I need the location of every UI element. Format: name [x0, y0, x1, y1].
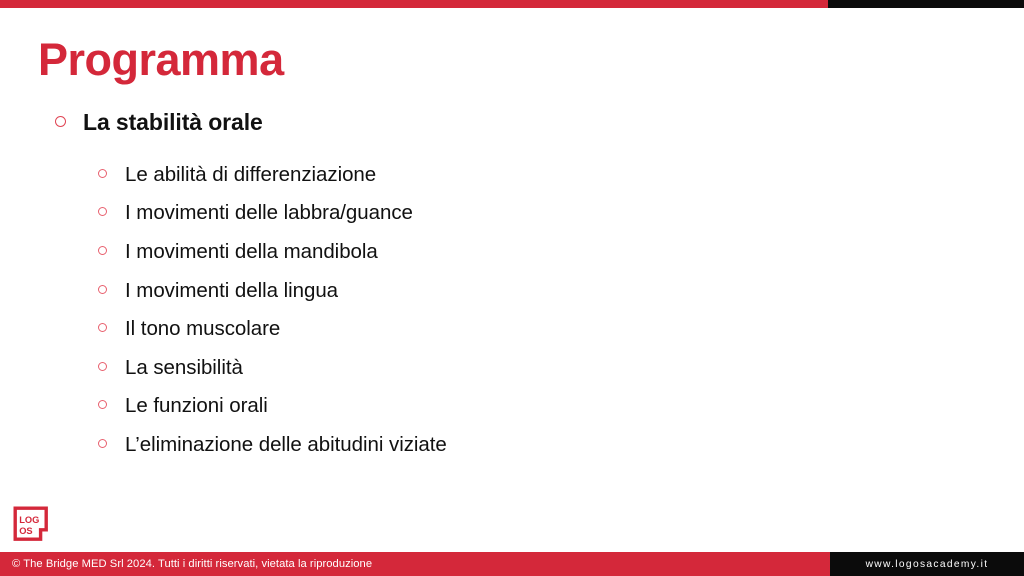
circle-bullet-icon [98, 207, 107, 216]
top-accent-bar-red [0, 0, 828, 8]
list-item: Le funzioni orali [98, 394, 1024, 433]
footer-website-area: www.logosacademy.it [830, 552, 1024, 576]
copyright-text: © The Bridge MED Srl 2024. Tutti i dirit… [0, 558, 372, 570]
circle-bullet-icon [98, 439, 107, 448]
website-url-text: www.logosacademy.it [866, 559, 989, 570]
footer-bar: © The Bridge MED Srl 2024. Tutti i dirit… [0, 552, 1024, 576]
circle-bullet-icon [98, 323, 107, 332]
list-item-label: I movimenti della lingua [125, 279, 338, 304]
page-title: Programma [38, 36, 284, 83]
circle-bullet-icon [98, 362, 107, 371]
list-item: L’eliminazione delle abitudini viziate [98, 433, 1024, 472]
circle-bullet-icon [55, 116, 66, 127]
circle-bullet-icon [98, 169, 107, 178]
section-heading-item: La stabilità orale [55, 108, 1024, 137]
content-body: La stabilità orale Le abilità di differe… [0, 108, 1024, 472]
circle-bullet-icon [98, 285, 107, 294]
list-item-label: Le abilità di differenziazione [125, 163, 376, 188]
slide-canvas: Programma La stabilità orale Le abilità … [0, 0, 1024, 576]
bullet-list: Le abilità di differenziazione I movimen… [0, 163, 1024, 472]
list-item-label: L’eliminazione delle abitudini viziate [125, 433, 447, 458]
circle-bullet-icon [98, 400, 107, 409]
top-accent-bar [0, 0, 1024, 8]
logo-icon: LOG OS [12, 505, 50, 543]
circle-bullet-icon [98, 246, 107, 255]
list-item-label: I movimenti della mandibola [125, 240, 378, 265]
logos-academy-logo: LOG OS [12, 505, 50, 543]
list-item: Le abilità di differenziazione [98, 163, 1024, 202]
logo-text-os: OS [19, 526, 32, 536]
list-item: I movimenti della mandibola [98, 240, 1024, 279]
list-item-label: Il tono muscolare [125, 317, 280, 342]
list-item: I movimenti delle labbra/guance [98, 201, 1024, 240]
list-item: Il tono muscolare [98, 317, 1024, 356]
top-accent-bar-black [828, 0, 1024, 8]
footer-copyright-area: © The Bridge MED Srl 2024. Tutti i dirit… [0, 552, 830, 576]
list-item-label: La sensibilità [125, 356, 243, 381]
list-item-label: Le funzioni orali [125, 394, 268, 419]
list-item-label: I movimenti delle labbra/guance [125, 201, 413, 226]
list-item: La sensibilità [98, 356, 1024, 395]
list-item: I movimenti della lingua [98, 279, 1024, 318]
logo-text-log: LOG [19, 515, 39, 525]
section-heading-label: La stabilità orale [83, 108, 263, 137]
